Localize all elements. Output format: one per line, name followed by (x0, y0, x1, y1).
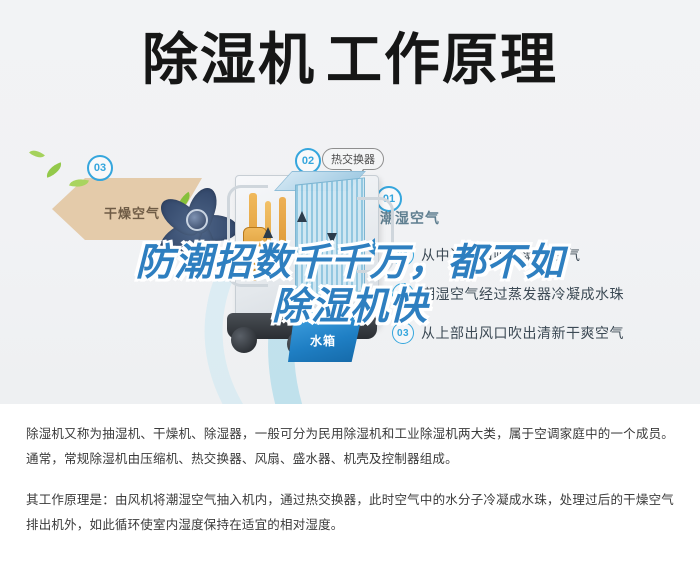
heat-exchanger-callout: 热交换器 (322, 148, 384, 170)
refrigerant-pipe-right (357, 197, 394, 273)
step-text: 从上部出风口吹出清新干爽空气 (421, 323, 624, 343)
step-number: 02 (392, 283, 414, 305)
body-paragraph-1: 除湿机又称为抽湿机、干燥机、除湿器，一般可分为民用除湿机和工业除湿机两大类，属于… (26, 422, 674, 472)
flow-arrow-up-icon (297, 211, 307, 222)
infographic-page: 除湿机工作原理 干燥空气 03 02 01 热交换器 潮湿空气 (0, 0, 700, 566)
steps-list: 01 从中进风口吸入潮湿空气 02 潮湿空气经过蒸发器冷凝成水珠 03 从上部出… (392, 244, 682, 361)
diagram-badge-03: 03 (87, 155, 113, 181)
caster-wheel-icon (231, 327, 257, 353)
copper-coil (279, 197, 286, 277)
list-item: 03 从上部出风口吹出清新干爽空气 (392, 322, 682, 344)
step-number: 01 (392, 244, 414, 266)
flow-arrow-down-icon (327, 233, 337, 244)
water-tank-label: 水箱 (310, 332, 336, 349)
leaf-icon (44, 162, 64, 178)
page-title-part2: 工作原理 (326, 28, 558, 91)
list-item: 02 潮湿空气经过蒸发器冷凝成水珠 (392, 283, 682, 305)
hero-infographic: 除湿机工作原理 干燥空气 03 02 01 热交换器 潮湿空气 (0, 0, 700, 404)
leaf-icon (29, 146, 45, 161)
step-text: 从中进风口吸入潮湿空气 (421, 245, 581, 265)
body-paragraph-2: 其工作原理是：由风机将潮湿空气抽入机内，通过热交换器，此时空气中的水分子冷凝成水… (26, 488, 674, 538)
page-title: 除湿机工作原理 (0, 26, 700, 94)
list-item: 01 从中进风口吸入潮湿空气 (392, 244, 682, 266)
flow-arrow-up-icon (263, 227, 273, 238)
step-text: 潮湿空气经过蒸发器冷凝成水珠 (421, 284, 624, 304)
page-title-part1: 除湿机 (142, 28, 316, 91)
article-body: 除湿机又称为抽湿机、干燥机、除湿器，一般可分为民用除湿机和工业除湿机两大类，属于… (0, 404, 700, 566)
step-number: 03 (392, 322, 414, 344)
